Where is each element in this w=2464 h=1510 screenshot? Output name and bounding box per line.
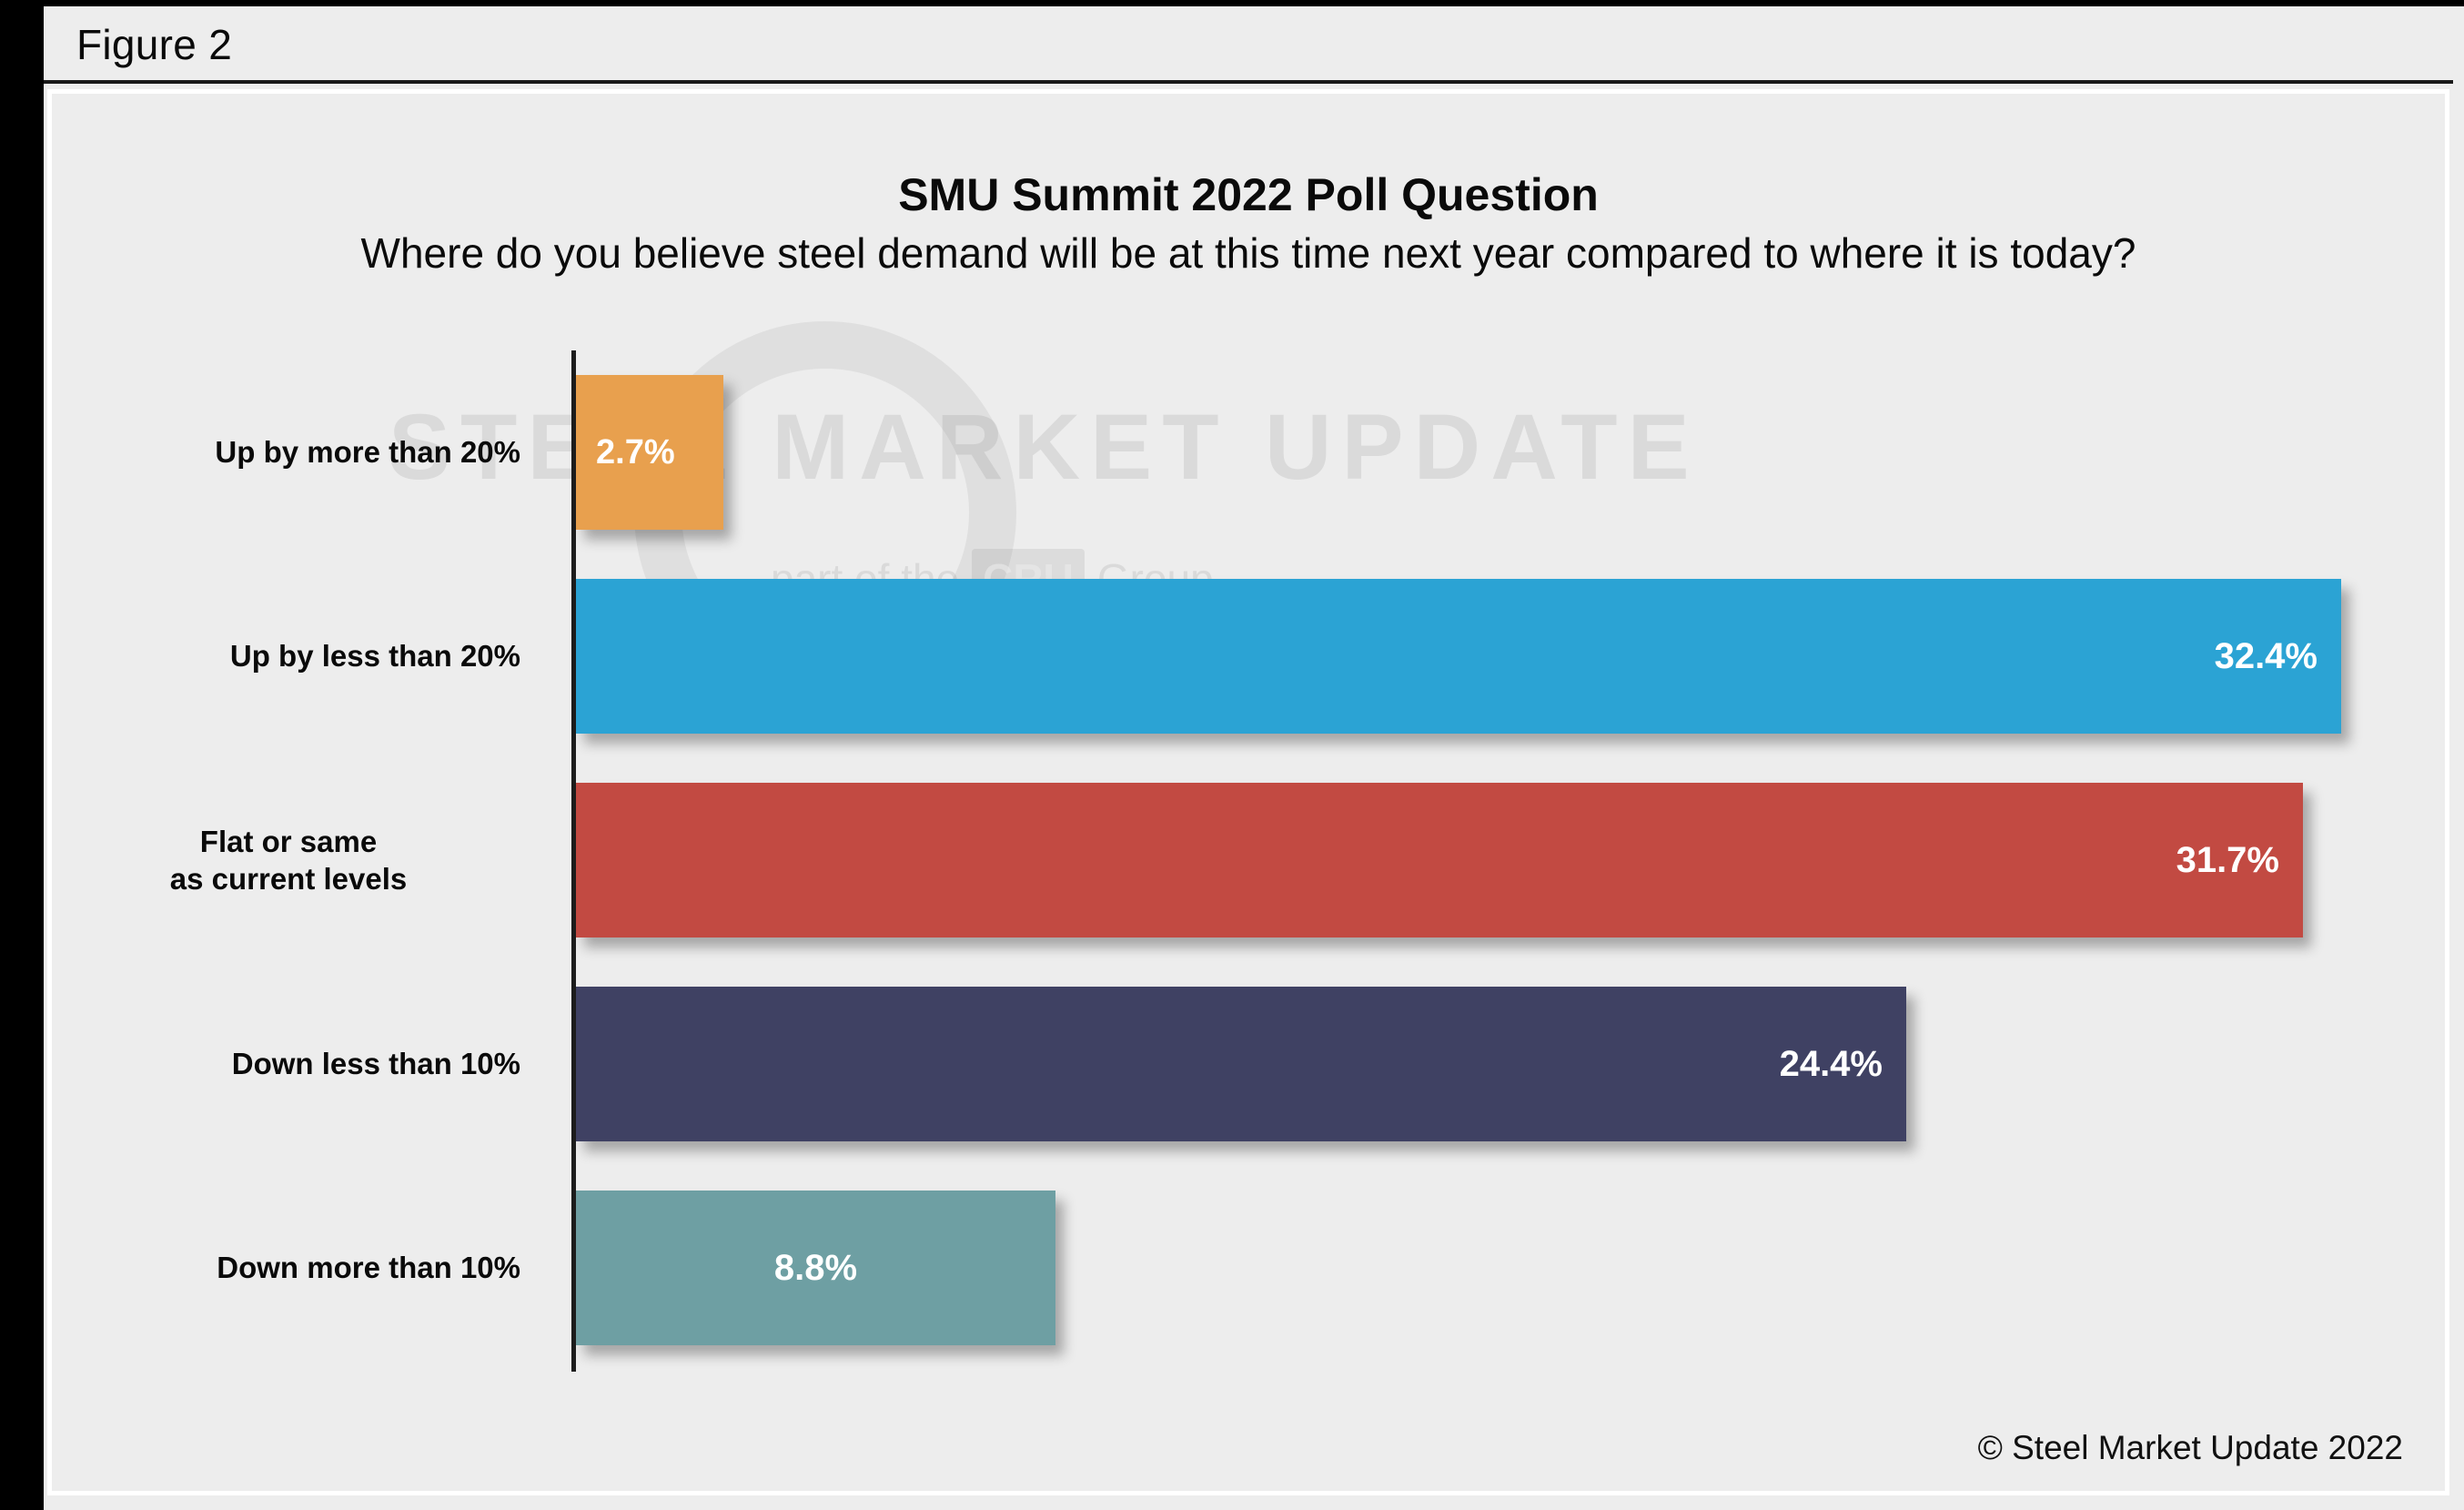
category-label-text: Up by less than 20% bbox=[230, 637, 520, 674]
category-label: Down more than 10% bbox=[55, 1166, 546, 1370]
category-axis-line bbox=[571, 350, 576, 1372]
plot-area: Up by more than 20% 2.7% Up by less than… bbox=[52, 94, 2445, 1491]
category-label: Down less than 10% bbox=[55, 962, 546, 1166]
bar-row: Down more than 10% 8.8% bbox=[52, 1166, 2445, 1370]
left-black-gutter bbox=[0, 0, 44, 1510]
bar-value-label: 24.4% bbox=[1780, 1044, 1883, 1085]
category-label: Up by less than 20% bbox=[55, 554, 546, 758]
figure-caption-text: Figure 2 bbox=[76, 20, 232, 69]
top-black-rule bbox=[44, 0, 2464, 6]
chart-frame: STEEL MARKET UPDATE part of the CRU Grou… bbox=[47, 89, 2449, 1495]
category-label-line1: Flat or same bbox=[200, 825, 377, 858]
category-label-text: Up by more than 20% bbox=[215, 433, 520, 471]
chart-subtitle: Where do you believe steel demand will b… bbox=[52, 228, 2445, 278]
chart-title: SMU Summit 2022 Poll Question bbox=[52, 168, 2445, 221]
figure-screenshot: Figure 2 STEEL MARKET UPDATE part of the… bbox=[0, 0, 2464, 1510]
bar-segment[interactable]: 2.7% bbox=[576, 375, 723, 530]
category-label-line2: as current levels bbox=[170, 862, 408, 896]
bar-segment[interactable]: 32.4% bbox=[576, 579, 2341, 734]
category-label-text: Flat or sameas current levels bbox=[170, 823, 408, 898]
category-label-text: Down less than 10% bbox=[232, 1045, 520, 1082]
bar-value-label: 2.7% bbox=[596, 433, 675, 472]
category-label: Up by more than 20% bbox=[55, 350, 546, 554]
category-label: Flat or sameas current levels bbox=[55, 758, 546, 962]
bar-value-label: 8.8% bbox=[774, 1248, 857, 1289]
bar-container: 24.4% bbox=[576, 987, 1906, 1141]
bar-segment[interactable]: 24.4% bbox=[576, 987, 1906, 1141]
figure-caption: Figure 2 bbox=[44, 9, 2453, 80]
bar-row: Flat or sameas current levels 31.7% bbox=[52, 758, 2445, 962]
bar-value-label: 31.7% bbox=[2176, 840, 2279, 881]
category-label-text: Down more than 10% bbox=[217, 1249, 520, 1286]
bar-row: Up by more than 20% 2.7% bbox=[52, 350, 2445, 554]
bar-value-label: 32.4% bbox=[2215, 636, 2318, 677]
bar-container: 2.7% bbox=[576, 375, 723, 530]
caption-divider bbox=[44, 80, 2453, 84]
bar-container: 32.4% bbox=[576, 579, 2341, 734]
bar-container: 31.7% bbox=[576, 783, 2303, 937]
bar-row: Up by less than 20% 32.4% bbox=[52, 554, 2445, 758]
bar-segment[interactable]: 8.8% bbox=[576, 1191, 1055, 1345]
bar-row: Down less than 10% 24.4% bbox=[52, 962, 2445, 1166]
bar-container: 8.8% bbox=[576, 1191, 1055, 1345]
bar-segment[interactable]: 31.7% bbox=[576, 783, 2303, 937]
chart-inner: STEEL MARKET UPDATE part of the CRU Grou… bbox=[52, 94, 2445, 1491]
copyright-text: © Steel Market Update 2022 bbox=[1978, 1429, 2403, 1467]
